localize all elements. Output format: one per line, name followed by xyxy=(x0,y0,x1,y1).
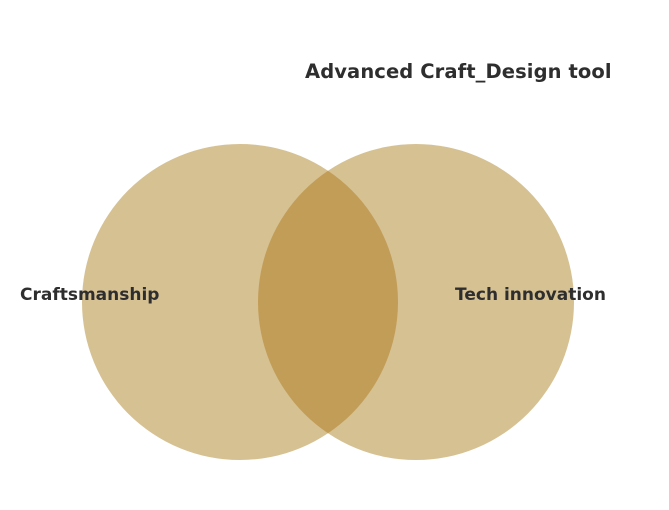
page-title: Advanced Craft_Design tool xyxy=(305,60,612,83)
venn-label-craftsmanship: Craftsmanship xyxy=(20,285,159,305)
venn-diagram-canvas: Advanced Craft_Design tool Craftsmanship… xyxy=(0,0,669,510)
venn-label-tech-innovation: Tech innovation xyxy=(455,285,606,305)
